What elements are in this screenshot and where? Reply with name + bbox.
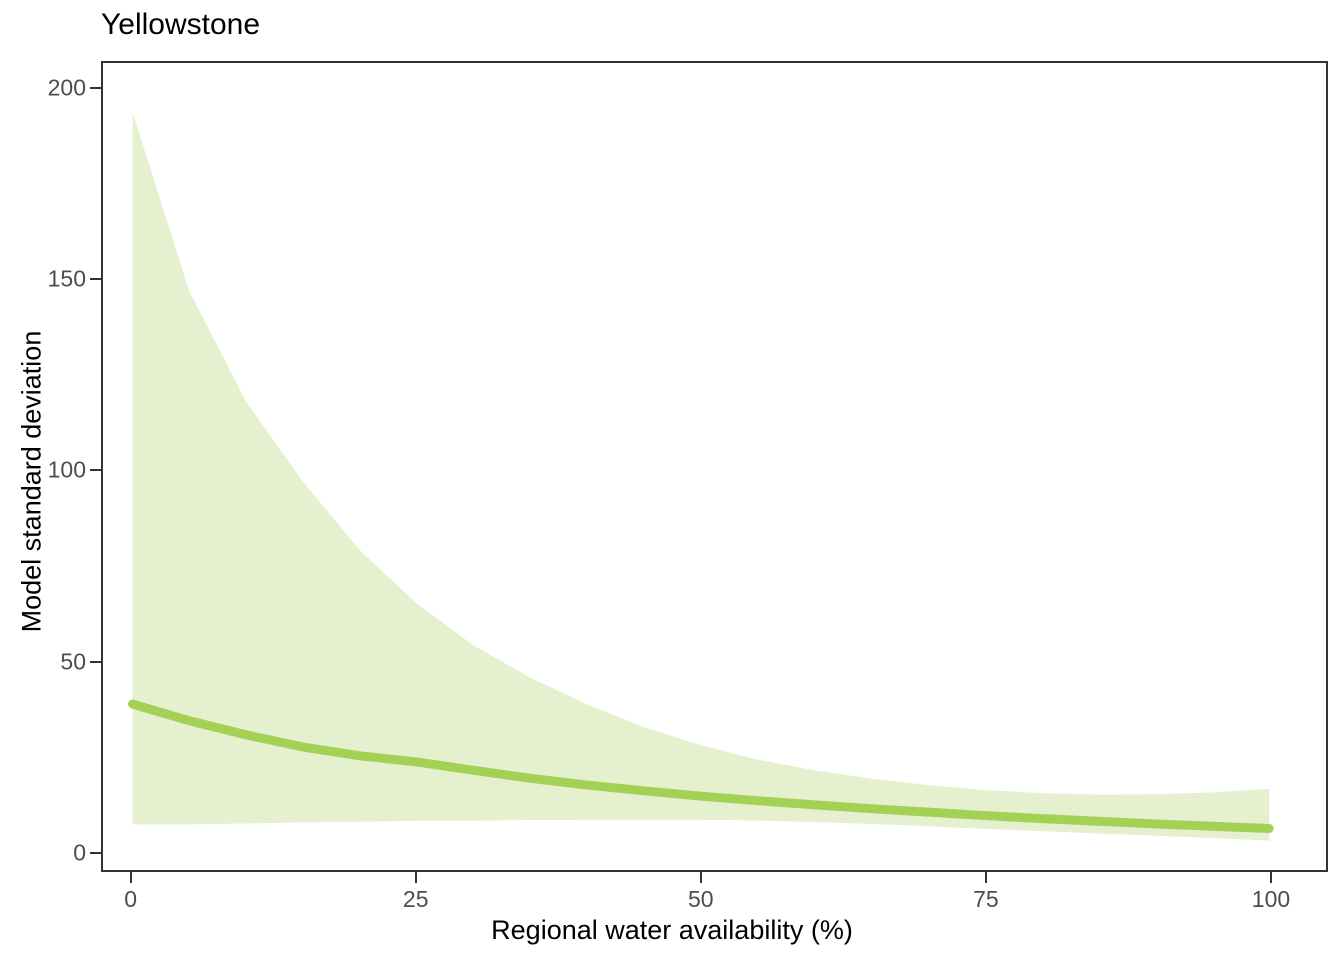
- x-tick-label: 100: [1252, 886, 1290, 913]
- plot-svg: [103, 63, 1326, 870]
- x-tick-label: 50: [688, 886, 714, 913]
- y-axis-title: Model standard deviation: [17, 222, 48, 742]
- y-tick-label: 100: [48, 457, 86, 484]
- x-tick-mark: [700, 872, 702, 883]
- x-tick-mark: [985, 872, 987, 883]
- x-tick-mark: [1270, 872, 1272, 883]
- y-tick-label: 200: [48, 74, 86, 101]
- y-tick-label: 50: [60, 648, 86, 675]
- page-title: Yellowstone: [101, 8, 260, 42]
- x-tick-mark: [415, 872, 417, 883]
- y-tick-mark: [90, 87, 101, 89]
- y-tick-mark: [90, 852, 101, 854]
- chart-root: Yellowstone 050100150200 0255075100 Regi…: [0, 0, 1344, 960]
- x-tick-label: 75: [973, 886, 999, 913]
- y-tick-mark: [90, 469, 101, 471]
- y-tick-label: 0: [73, 839, 86, 866]
- x-axis-title: Regional water availability (%): [0, 915, 1344, 946]
- x-tick-mark: [130, 872, 132, 883]
- x-tick-label: 0: [124, 886, 137, 913]
- y-tick-mark: [90, 278, 101, 280]
- confidence-ribbon: [133, 112, 1270, 840]
- x-tick-label: 25: [403, 886, 429, 913]
- plot-panel: [101, 61, 1328, 872]
- y-tick-mark: [90, 661, 101, 663]
- y-tick-label: 150: [48, 266, 86, 293]
